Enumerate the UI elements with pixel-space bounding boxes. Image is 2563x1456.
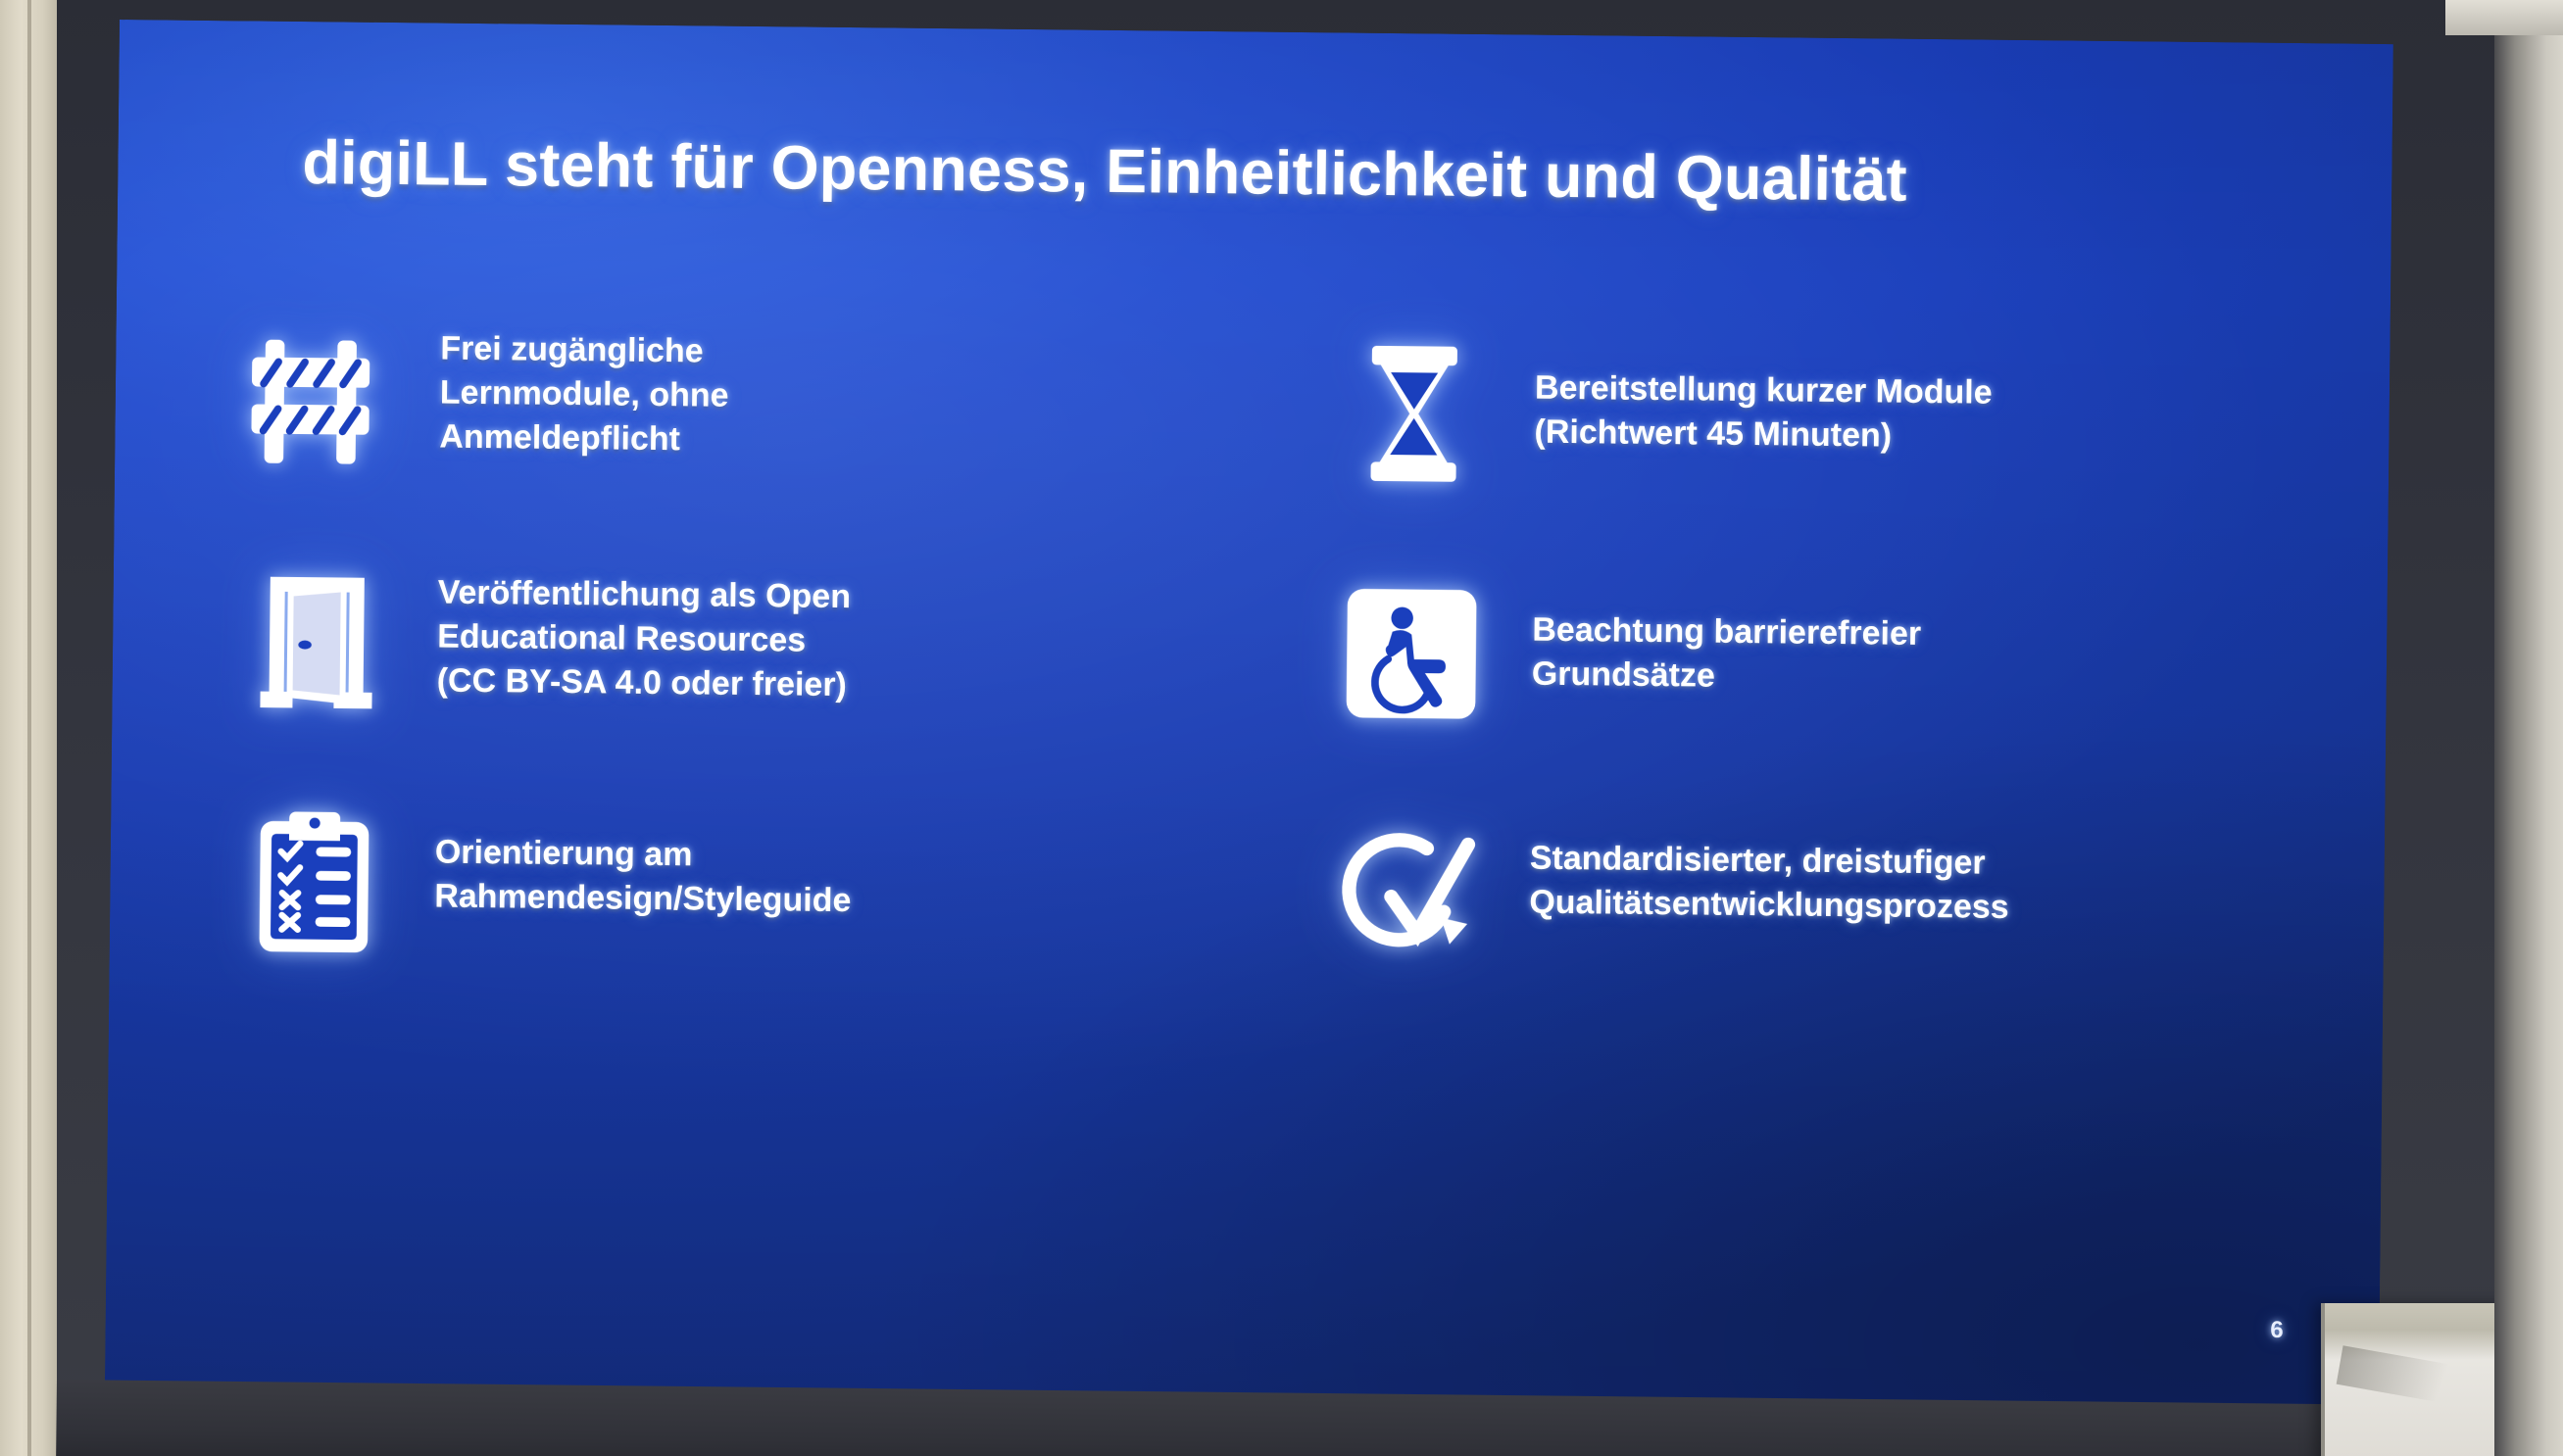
- feature-line: Lernmodule, ohne: [440, 371, 729, 418]
- feature-line: (CC BY-SA 4.0 oder freier): [436, 659, 850, 708]
- right-wall-top-trim: [2445, 0, 2563, 35]
- right-wall: [2494, 0, 2563, 1456]
- feature-item-open-access: Frei zugängliche Lernmodule, ohne Anmeld…: [231, 315, 1258, 565]
- feature-line: Anmeldepflicht: [439, 415, 728, 462]
- feature-item-text: Bereitstellung kurzer Module (Richtwert …: [1534, 329, 1993, 460]
- feature-grid: Frei zugängliche Lernmodule, ohne Anmeld…: [226, 315, 2302, 1057]
- feature-item-text: Standardisierter, dreistufiger Qualitäts…: [1529, 809, 2010, 931]
- room-photo-scene: digiLL steht für Openness, Einheitlichke…: [0, 0, 2563, 1456]
- feature-item-accessibility: Beachtung barrierefreier Grundsätze: [1272, 566, 2299, 817]
- feature-line: Frei zugängliche: [440, 327, 729, 374]
- feature-item-styleguide: Orientierung am Rahmendesign/Styleguide: [226, 795, 1254, 1045]
- feature-line: Rahmendesign/Styleguide: [434, 875, 852, 924]
- slide-page-number: 6: [2270, 1317, 2284, 1344]
- clipboard-checklist-icon: [227, 795, 401, 968]
- feature-line: Qualitätsentwicklungsprozess: [1529, 881, 2009, 931]
- feature-item-quality-process: Standardisierter, dreistufiger Qualitäts…: [1270, 806, 2297, 1057]
- feature-item-oer: Veröffentlichung als Open Educational Re…: [228, 555, 1256, 805]
- feature-line: Educational Resources: [437, 615, 851, 664]
- barrier-icon: [232, 315, 406, 488]
- feature-item-text: Orientierung am Rahmendesign/Styleguide: [434, 798, 852, 924]
- page-title: digiLL steht für Openness, Einheitlichke…: [302, 129, 2275, 218]
- feature-line: (Richtwert 45 Minuten): [1534, 411, 1992, 460]
- projected-slide: digiLL steht für Openness, Einheitlichke…: [105, 20, 2393, 1416]
- check-cycle-icon: [1321, 806, 1495, 980]
- feature-line: Beachtung barrierefreier: [1532, 608, 1921, 657]
- feature-line: Grundsätze: [1532, 653, 1921, 702]
- left-wall: [0, 0, 61, 1456]
- wheelchair-accessibility-icon: [1324, 566, 1498, 740]
- feature-item-text: Beachtung barrierefreier Grundsätze: [1532, 569, 1922, 702]
- feature-line: Veröffentlichung als Open: [437, 571, 851, 620]
- feature-line: Orientierung am: [435, 831, 853, 880]
- feature-item-text: Veröffentlichung als Open Educational Re…: [436, 558, 851, 708]
- feature-item-text: Frei zugängliche Lernmodule, ohne Anmeld…: [439, 317, 729, 463]
- feature-line: Standardisierter, dreistufiger: [1530, 837, 2010, 887]
- feature-line: Bereitstellung kurzer Module: [1535, 366, 1993, 415]
- open-door-icon: [229, 555, 403, 728]
- hourglass-icon: [1327, 326, 1501, 500]
- feature-item-short-modules: Bereitstellung kurzer Module (Richtwert …: [1275, 326, 2302, 577]
